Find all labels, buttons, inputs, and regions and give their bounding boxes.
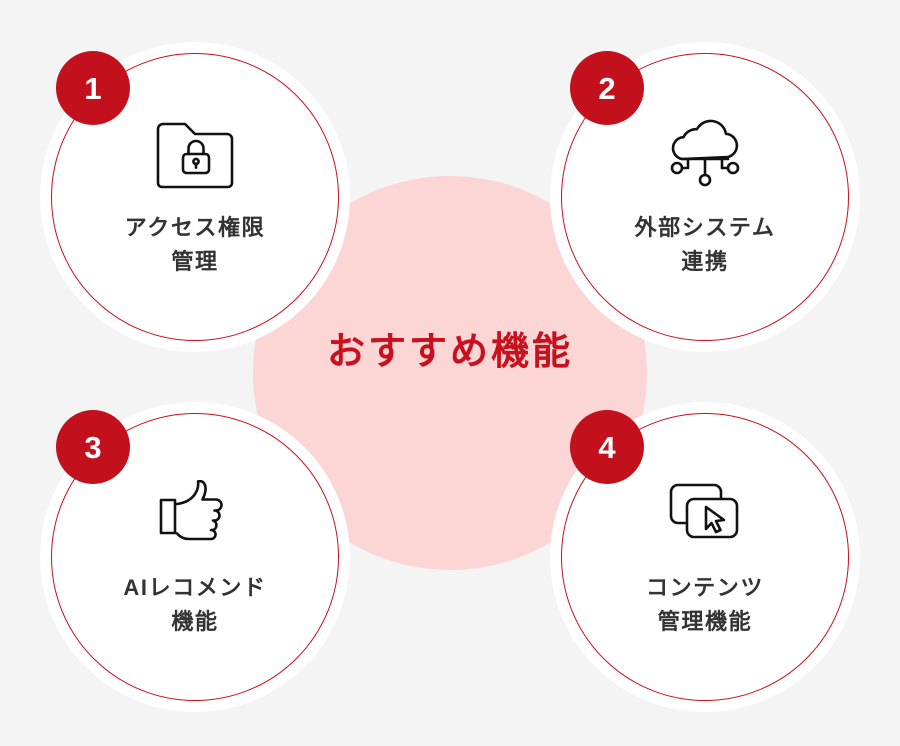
diagram-canvas: アクセス権限 管理 外部システム 連携: [0, 0, 900, 746]
center-title: おすすめ機能: [253, 330, 647, 376]
feature-label: 外部システム 連携: [635, 211, 776, 279]
badge-1: 1: [56, 51, 130, 125]
feature-label: AIレコメンド 機能: [123, 571, 266, 639]
badge-2: 2: [570, 51, 644, 125]
badge-3: 3: [56, 410, 130, 484]
thumbs-up-icon: [145, 475, 245, 555]
feature-label: コンテンツ 管理機能: [646, 571, 764, 639]
folder-lock-icon: [145, 115, 245, 195]
cloud-network-icon: [655, 115, 755, 195]
windows-cursor-icon: [655, 475, 755, 555]
feature-label: アクセス権限 管理: [125, 211, 266, 279]
badge-4: 4: [570, 410, 644, 484]
